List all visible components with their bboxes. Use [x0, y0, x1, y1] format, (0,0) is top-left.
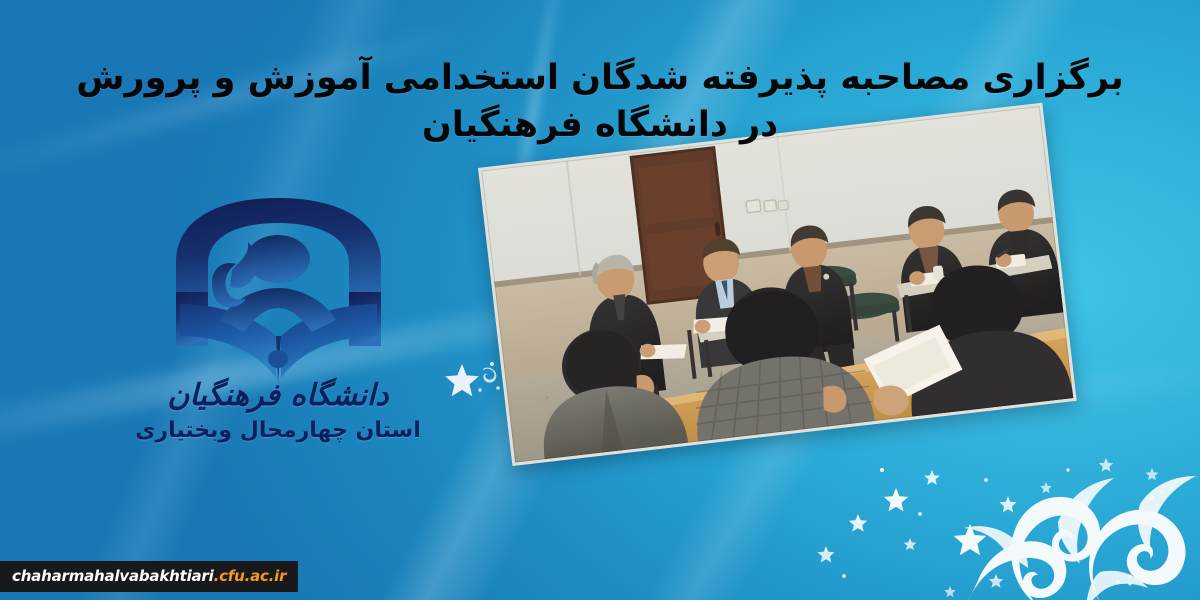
banner-title: برگزاری مصاحبه پذیرفته شدگان استخدامی آم… — [0, 58, 1200, 147]
farhangian-university-emblem-icon — [166, 196, 391, 386]
event-photo — [478, 103, 1077, 466]
logo-wordmark: دانشگاه فرهنگیان — [128, 378, 428, 413]
logo-subtitle: استان چهارمحال وبختیاری — [128, 418, 428, 443]
site-url-name: chaharmahalvabakhtiari — [12, 567, 214, 585]
title-line-2: در دانشگاه فرهنگیان — [0, 105, 1200, 146]
university-logo: دانشگاه فرهنگیان استان چهارمحال وبختیاری — [128, 196, 428, 461]
site-url-badge[interactable]: chaharmahalvabakhtiari.cfu.ac.ir — [0, 561, 298, 592]
event-photo-image — [481, 106, 1073, 463]
floral-swirl-ornament-icon — [800, 426, 1200, 600]
banner-stage: برگزاری مصاحبه پذیرفته شدگان استخدامی آم… — [0, 0, 1200, 600]
title-line-1: برگزاری مصاحبه پذیرفته شدگان استخدامی آم… — [0, 58, 1200, 99]
site-url-tld: .cfu.ac.ir — [214, 567, 287, 585]
small-flower-ornament-icon — [440, 358, 500, 410]
